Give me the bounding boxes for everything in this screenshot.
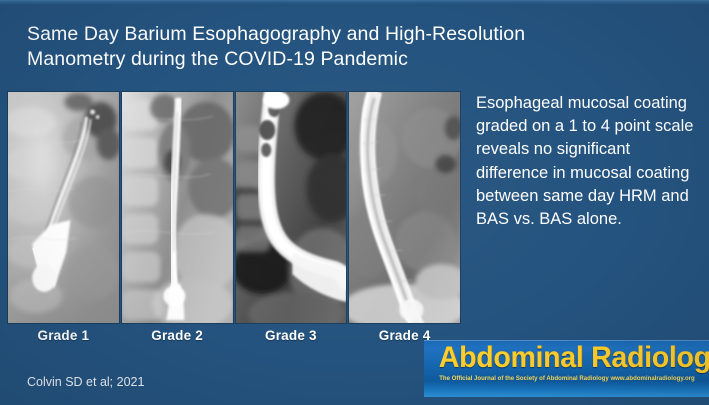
radiograph-panel-grade-4	[349, 92, 460, 323]
radiograph-panel-grade-3	[236, 92, 347, 323]
citation-text: Colvin SD et al; 2021	[27, 375, 144, 389]
key-finding-text: Esophageal mucosal coating graded on a 1…	[476, 92, 700, 231]
grade-label-3: Grade 3	[236, 326, 347, 348]
journal-logo: Abdominal Radiology The Official Journal…	[424, 340, 709, 397]
presentation-slide: Same Day Barium Esophagography and High-…	[0, 0, 709, 405]
xray-image-grade-2	[122, 92, 233, 323]
journal-logo-subtitle: The Official Journal of the Society of A…	[431, 375, 702, 383]
slide-title: Same Day Barium Esophagography and High-…	[27, 22, 647, 72]
xray-image-grade-4	[349, 92, 460, 323]
journal-logo-title: Abdominal Radiology	[439, 341, 697, 375]
grade-label-2: Grade 2	[122, 326, 233, 348]
radiograph-panel-grade-1	[8, 92, 119, 323]
radiograph-panel-strip	[8, 92, 460, 323]
xray-image-grade-1	[8, 92, 119, 323]
radiograph-panel-grade-2	[122, 92, 233, 323]
grade-label-row: Grade 1 Grade 2 Grade 3 Grade 4	[8, 326, 460, 348]
grade-label-1: Grade 1	[8, 326, 119, 348]
xray-image-grade-3	[236, 92, 347, 323]
